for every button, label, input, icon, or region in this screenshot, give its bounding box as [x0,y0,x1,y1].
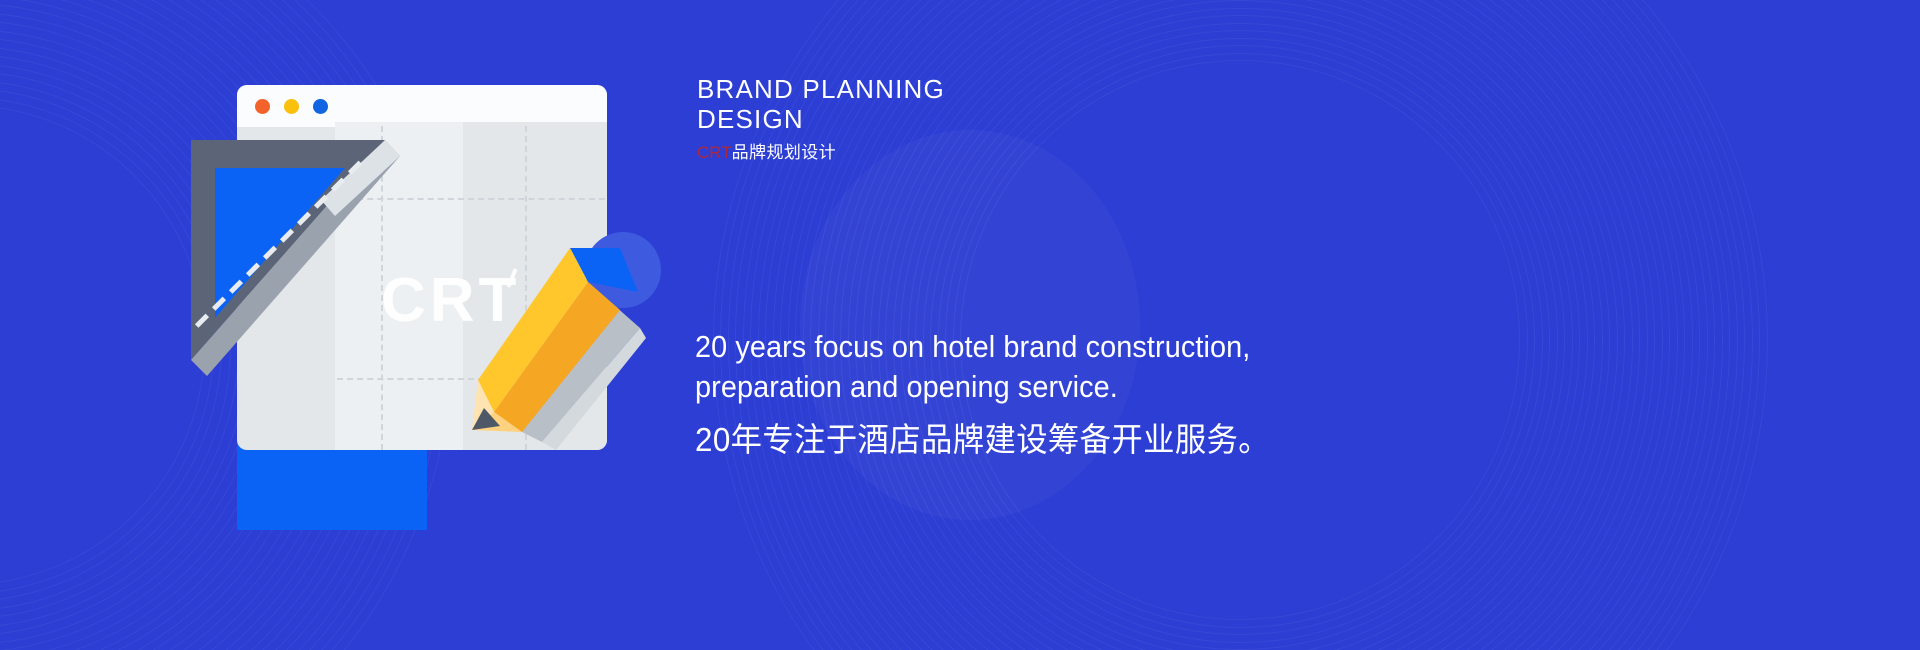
tagline-en-line-1: 20 years focus on hotel brand constructi… [695,327,1420,367]
close-dot[interactable] [255,99,270,114]
decorative-ring [0,97,214,594]
brand-banner: CRT [0,0,1920,650]
minimize-dot[interactable] [284,99,299,114]
headline-subtitle: CRT品牌规划设计 [697,143,1117,163]
window-title-bar [237,85,607,127]
headline-line-1: BRAND PLANNING [697,74,1117,104]
tagline-block: 20 years focus on hotel brand constructi… [695,327,1475,460]
decorative-ring [0,105,205,585]
pencil-icon [470,230,680,455]
headline-block: BRAND PLANNING DESIGN CRT品牌规划设计 [697,74,1117,164]
tagline-en-line-2: preparation and opening service. [695,367,1420,407]
headline-line-2: DESIGN [697,104,1117,134]
background-blob [800,130,1140,520]
maximize-dot[interactable] [313,99,328,114]
window-controls [255,99,328,114]
brand-name: CRT [697,143,732,162]
set-square-ruler-icon [185,138,400,378]
hero-illustration: CRT [185,80,685,460]
headline-subtitle-cn: 品牌规划设计 [732,143,836,162]
tagline-cn: 20年专注于酒店品牌建设筹备开业服务。 [695,419,1436,460]
